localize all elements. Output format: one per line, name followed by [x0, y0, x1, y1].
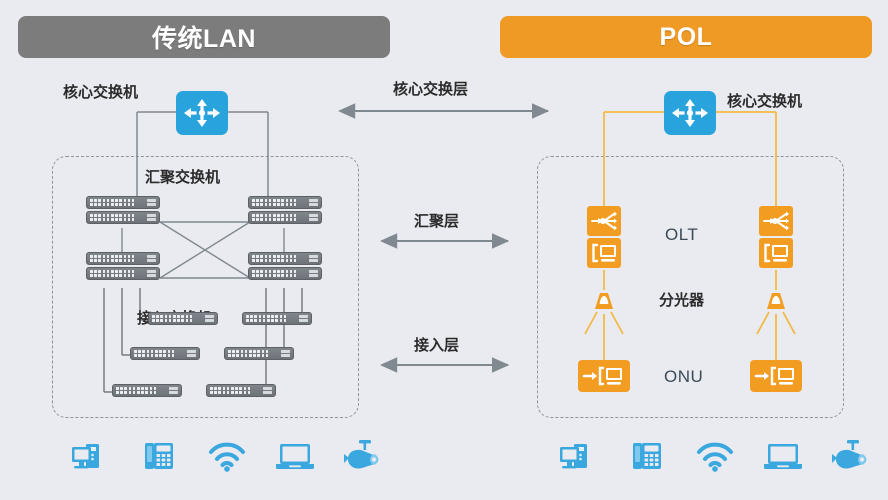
optical-splitter[interactable]	[764, 290, 788, 314]
connection-lines-layer	[0, 0, 888, 500]
endpoint-wifi[interactable]	[694, 437, 736, 477]
switch-unit	[248, 196, 322, 209]
uplink-ports	[169, 387, 178, 393]
port-grid	[252, 270, 306, 276]
switch-unit	[248, 267, 322, 280]
pol-endpoint-row	[558, 437, 872, 477]
endpoint-wifi[interactable]	[206, 437, 248, 477]
olt-splitter-icon	[759, 206, 793, 236]
diagram-canvas: 传统LAN POL	[0, 0, 888, 500]
olt-device[interactable]	[759, 206, 793, 268]
switch-unit	[206, 384, 276, 397]
access-switch[interactable]	[148, 312, 218, 325]
desktop-pc-icon	[558, 437, 600, 477]
olt-terminal-icon	[759, 238, 793, 268]
access-switch[interactable]	[206, 384, 276, 397]
switch-unit	[248, 252, 322, 265]
olt-label: OLT	[665, 226, 698, 243]
onu-device[interactable]	[578, 360, 630, 392]
switch-unit	[112, 384, 182, 397]
switch-unit	[86, 252, 160, 265]
cctv-camera-icon	[830, 437, 872, 477]
uplink-ports	[147, 214, 156, 220]
endpoint-desktop[interactable]	[70, 437, 112, 477]
switch-4way-icon	[176, 91, 228, 135]
olt-terminal-half	[587, 238, 621, 268]
switch-unit	[242, 312, 312, 325]
port-grid	[90, 199, 144, 205]
access-switch[interactable]	[242, 312, 312, 325]
optical-splitter[interactable]	[592, 290, 616, 314]
switch-unit	[224, 347, 294, 360]
onu-terminal-icon	[578, 360, 630, 392]
lan-core-switch[interactable]	[176, 91, 228, 135]
olt-device[interactable]	[587, 206, 621, 268]
port-grid	[152, 315, 202, 321]
port-grid	[228, 350, 278, 356]
olt-splitter-icon	[587, 206, 621, 236]
desktop-pc-icon	[70, 437, 112, 477]
port-grid	[252, 199, 306, 205]
port-grid	[134, 350, 184, 356]
layer-label-access: 接入层	[414, 338, 459, 353]
pol-core-switch[interactable]	[664, 91, 716, 135]
olt-terminal-half	[759, 238, 793, 268]
uplink-ports	[187, 350, 196, 356]
optical-splitter-icon	[592, 290, 616, 314]
onu-label: ONU	[664, 368, 703, 385]
lan-aggregation-label: 汇聚交换机	[145, 170, 220, 185]
uplink-ports	[147, 255, 156, 261]
ip-phone-icon	[626, 437, 668, 477]
wifi-icon	[206, 437, 248, 477]
uplink-ports	[299, 315, 308, 321]
uplink-ports	[281, 350, 290, 356]
access-switch[interactable]	[112, 384, 182, 397]
uplink-ports	[309, 270, 318, 276]
port-grid	[90, 255, 144, 261]
uplink-ports	[205, 315, 214, 321]
switch-unit	[148, 312, 218, 325]
endpoint-camera[interactable]	[342, 437, 384, 477]
endpoint-laptop[interactable]	[762, 437, 804, 477]
pol-core-switch-label: 核心交换机	[727, 94, 802, 109]
lan-endpoint-row	[70, 437, 384, 477]
access-switch[interactable]	[130, 347, 200, 360]
port-grid	[116, 387, 166, 393]
switch-4way-icon	[664, 91, 716, 135]
ip-phone-icon	[138, 437, 180, 477]
olt-splitter-half	[759, 206, 793, 236]
endpoint-laptop[interactable]	[274, 437, 316, 477]
uplink-ports	[147, 199, 156, 205]
layer-label-core: 核心交换层	[393, 82, 468, 97]
endpoint-camera[interactable]	[830, 437, 872, 477]
aggregation-switch[interactable]	[86, 196, 160, 224]
olt-terminal-icon	[587, 238, 621, 268]
wifi-icon	[694, 437, 736, 477]
uplink-ports	[309, 214, 318, 220]
port-grid	[246, 315, 296, 321]
laptop-icon	[274, 437, 316, 477]
endpoint-phone[interactable]	[138, 437, 180, 477]
aggregation-switch[interactable]	[248, 252, 322, 280]
port-grid	[210, 387, 260, 393]
port-grid	[252, 255, 306, 261]
laptop-icon	[762, 437, 804, 477]
switch-unit	[86, 211, 160, 224]
lan-core-switch-label: 核心交换机	[63, 85, 138, 100]
onu-terminal-icon	[750, 360, 802, 392]
splitter-label: 分光器	[659, 293, 704, 308]
port-grid	[252, 214, 306, 220]
onu-device[interactable]	[750, 360, 802, 392]
port-grid	[90, 270, 144, 276]
port-grid	[90, 214, 144, 220]
endpoint-desktop[interactable]	[558, 437, 600, 477]
uplink-ports	[309, 199, 318, 205]
cctv-camera-icon	[342, 437, 384, 477]
switch-unit	[130, 347, 200, 360]
switch-unit	[248, 211, 322, 224]
olt-splitter-half	[587, 206, 621, 236]
layer-label-aggregation: 汇聚层	[414, 214, 459, 229]
aggregation-switch[interactable]	[86, 252, 160, 280]
endpoint-phone[interactable]	[626, 437, 668, 477]
uplink-ports	[263, 387, 272, 393]
optical-splitter-icon	[764, 290, 788, 314]
access-switch[interactable]	[224, 347, 294, 360]
uplink-ports	[309, 255, 318, 261]
switch-unit	[86, 267, 160, 280]
uplink-ports	[147, 270, 156, 276]
aggregation-switch[interactable]	[248, 196, 322, 224]
switch-unit	[86, 196, 160, 209]
